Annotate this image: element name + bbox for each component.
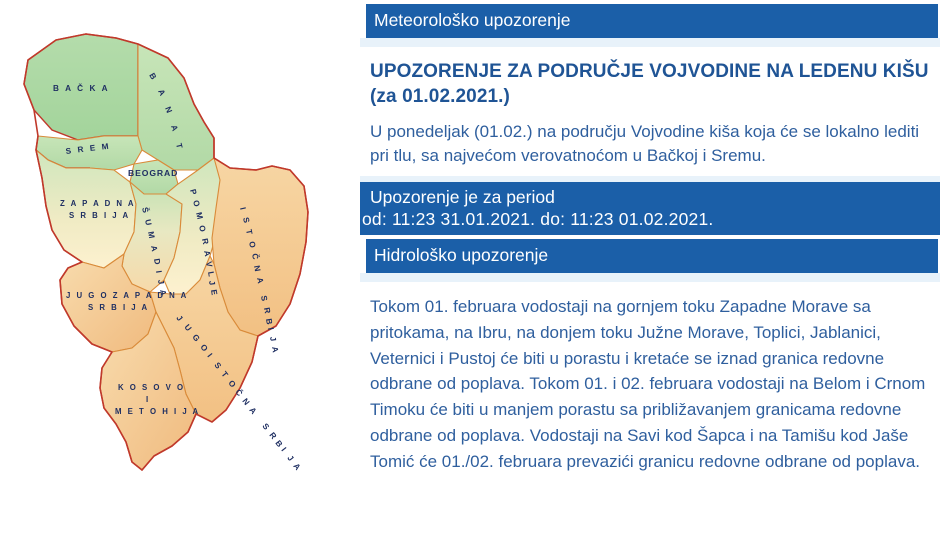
period-range: od: 11:23 31.01.2021. do: 11:23 01.02.20… bbox=[360, 208, 940, 230]
svg-text:I: I bbox=[146, 395, 150, 404]
svg-text:J: J bbox=[207, 280, 217, 288]
svg-text:A: A bbox=[291, 462, 303, 474]
meteo-tint-strip bbox=[360, 38, 940, 47]
serbia-regions-map: B A Č K A B A N A T S R E M BEOGRAD Z A … bbox=[8, 18, 348, 538]
period-band: Upozorenje je za period od: 11:23 31.01.… bbox=[360, 182, 940, 235]
map-label-backa: B A Č K A bbox=[53, 82, 110, 93]
svg-text:K O S O V O: K O S O V O bbox=[118, 383, 185, 392]
svg-text:M: M bbox=[146, 231, 157, 241]
hydro-body: Tokom 01. februara vodostaji na gornjem … bbox=[360, 282, 940, 475]
svg-text:A: A bbox=[149, 245, 159, 254]
map-label-beograd: BEOGRAD bbox=[128, 168, 178, 178]
svg-text:N: N bbox=[240, 397, 252, 409]
meteo-band-header: Meteorološko upozorenje bbox=[366, 4, 938, 38]
alert-page: B A Č K A B A N A T S R E M BEOGRAD Z A … bbox=[0, 0, 940, 550]
svg-text:N: N bbox=[252, 265, 262, 275]
svg-text:A: A bbox=[255, 277, 265, 286]
svg-text:J: J bbox=[268, 336, 278, 344]
alert-panel: Meteorološko upozorenje UPOZORENJE ZA PO… bbox=[360, 0, 940, 550]
svg-text:A: A bbox=[270, 346, 280, 355]
hydro-band-header: Hidrološko upozorenje bbox=[366, 239, 938, 273]
map-panel: B A Č K A B A N A T S R E M BEOGRAD Z A … bbox=[0, 0, 358, 550]
svg-text:E: E bbox=[209, 289, 219, 298]
svg-text:M E T O H I J A: M E T O H I J A bbox=[115, 407, 200, 416]
hydro-tint-strip bbox=[360, 273, 940, 282]
svg-text:V: V bbox=[204, 261, 214, 270]
svg-text:B: B bbox=[264, 318, 274, 327]
period-label: Upozorenje je za period bbox=[360, 186, 940, 208]
svg-text:S R B I J A: S R B I J A bbox=[69, 211, 130, 220]
svg-text:A: A bbox=[247, 406, 259, 418]
svg-text:S: S bbox=[260, 422, 272, 434]
meteo-title: UPOZORENJE ZA PODRUČJE VOJVODINE NA LEDE… bbox=[360, 47, 940, 109]
svg-text:S: S bbox=[259, 295, 269, 304]
svg-text:J U G O Z A P A D N A: J U G O Z A P A D N A bbox=[66, 291, 188, 300]
svg-text:A: A bbox=[202, 250, 212, 260]
svg-text:J: J bbox=[156, 279, 166, 287]
svg-text:I: I bbox=[266, 327, 276, 333]
svg-text:Z A P A D N A: Z A P A D N A bbox=[60, 199, 136, 208]
meteo-body: U ponedeljak (01.02.) na području Vojvod… bbox=[360, 110, 940, 169]
svg-text:D: D bbox=[152, 258, 162, 267]
svg-text:R: R bbox=[262, 307, 272, 316]
svg-text:S R B I J A: S R B I J A bbox=[88, 303, 149, 312]
meteo-bottom-spacer bbox=[360, 169, 940, 176]
svg-text:J: J bbox=[285, 454, 296, 465]
